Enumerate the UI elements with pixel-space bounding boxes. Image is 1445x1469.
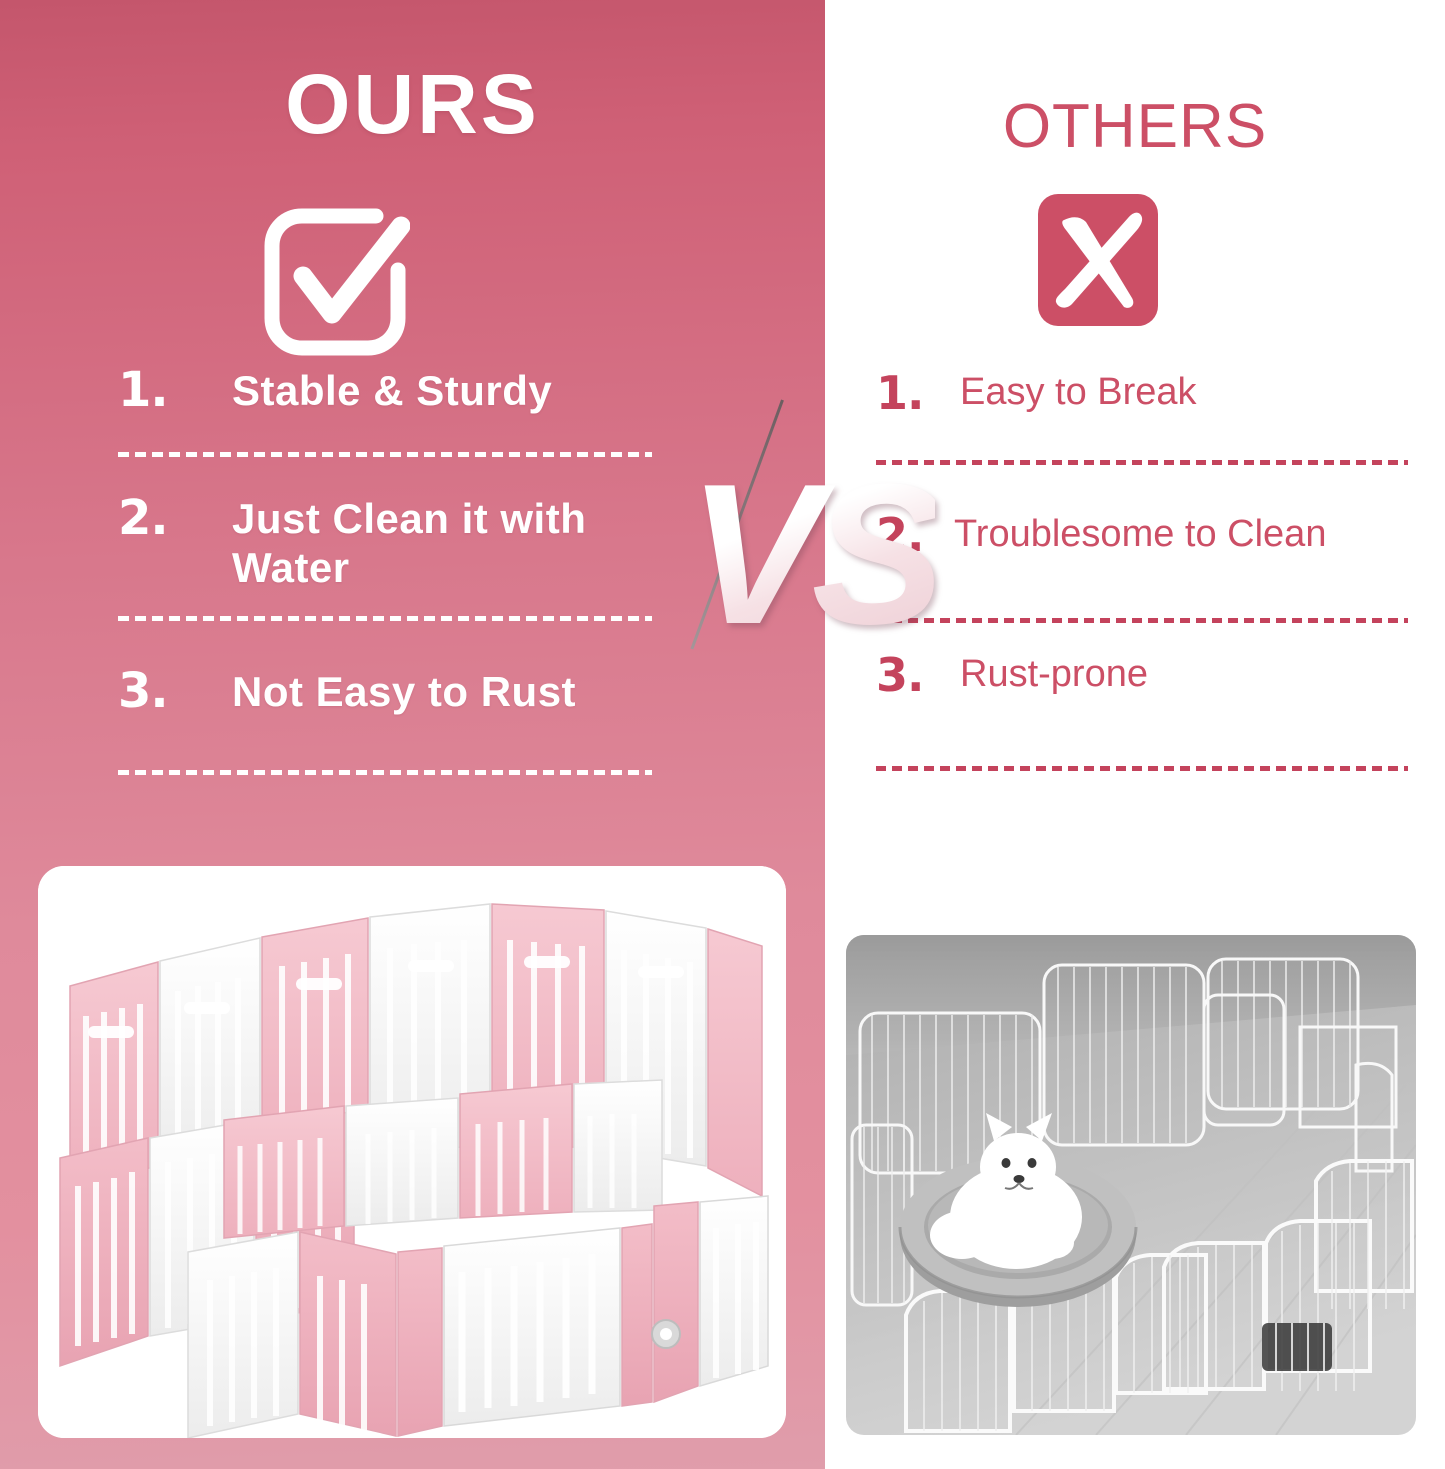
ours-product-photo (38, 866, 786, 1438)
list-item-label: Just Clean it with Water (210, 494, 658, 593)
others-title: OTHERS (825, 96, 1445, 158)
list-item-label: Troublesome to Clean (950, 512, 1421, 557)
separator-dashed (876, 618, 1408, 623)
checkbox-check-icon (258, 198, 410, 358)
list-item: 2. Troublesome to Clean (876, 512, 1421, 558)
x-mark-icon (1036, 190, 1160, 330)
list-item-label: Stable & Sturdy (210, 366, 658, 416)
list-item-number: 2. (876, 512, 950, 558)
list-item-label: Easy to Break (950, 370, 1421, 415)
list-item: 2. Just Clean it with Water (118, 494, 658, 593)
list-item-number: 1. (118, 366, 210, 414)
list-item: 3. Not Easy to Rust (118, 667, 658, 717)
list-item-number: 3. (118, 667, 210, 715)
list-item: 1. Easy to Break (876, 370, 1421, 416)
list-item-number: 3. (876, 652, 950, 698)
others-product-photo (846, 935, 1416, 1435)
list-item-label: Rust-prone (950, 652, 1421, 697)
list-item-number: 2. (118, 494, 210, 542)
list-item-label: Not Easy to Rust (210, 667, 658, 717)
separator-dashed (118, 452, 652, 457)
list-item: 3. Rust-prone (876, 652, 1421, 698)
list-item-number: 1. (876, 370, 950, 416)
separator-dashed (118, 770, 652, 775)
separator-dashed (876, 766, 1408, 771)
ours-title: OURS (0, 62, 825, 146)
ours-feature-list: 1. Stable & Sturdy 2. Just Clean it with… (118, 366, 658, 716)
list-item: 1. Stable & Sturdy (118, 366, 658, 416)
separator-dashed (118, 616, 652, 621)
separator-dashed (876, 460, 1408, 465)
comparison-infographic: OURS OTHERS 1. Stable & Sturdy 2. Just C… (0, 0, 1445, 1469)
others-feature-list: 1. Easy to Break 2. Troublesome to Clean… (876, 370, 1421, 698)
